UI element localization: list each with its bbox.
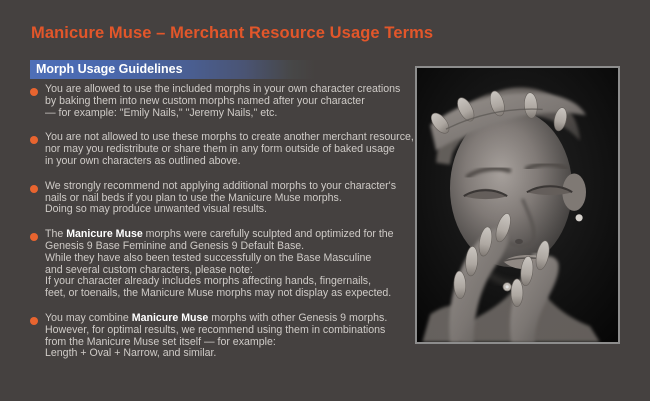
guideline-bullet: We strongly recommend not applying addit… (30, 181, 415, 216)
emphasis-text: Manicure Muse (66, 228, 143, 240)
bullet-dot-icon (30, 136, 38, 144)
plain-text: If your character already includes morph… (45, 275, 371, 287)
portrait-illustration (417, 68, 618, 342)
plain-text: You may combine (45, 312, 132, 324)
guideline-text: The Manicure Muse morphs were carefully … (45, 229, 415, 300)
guideline-text-line: Doing so may produce unwanted visual res… (45, 204, 415, 216)
plain-text: You are not allowed to use these morphs … (45, 131, 414, 143)
plain-text: nails or nail beds if you plan to use th… (45, 192, 342, 204)
guideline-bullet: You are allowed to use the included morp… (30, 84, 415, 119)
plain-text: by baking them into new custom morphs na… (45, 95, 365, 107)
plain-text: Doing so may produce unwanted visual res… (45, 203, 267, 215)
plain-text: morphs were carefully sculpted and optim… (143, 228, 394, 240)
plain-text: morphs with other Genesis 9 morphs. (208, 312, 387, 324)
bullet-dot-icon (30, 88, 38, 96)
plain-text: nor may you redistribute or share them i… (45, 143, 395, 155)
section-heading-band: Morph Usage Guidelines (30, 60, 315, 79)
plain-text: The (45, 228, 66, 240)
guideline-bullet: The Manicure Muse morphs were carefully … (30, 229, 415, 300)
guideline-text: You are allowed to use the included morp… (45, 84, 415, 119)
product-preview-image (415, 66, 620, 344)
plain-text: feet, or toenails, the Manicure Muse mor… (45, 287, 391, 299)
guideline-text: You are not allowed to use these morphs … (45, 132, 415, 167)
guideline-bullet: You may combine Manicure Muse morphs wit… (30, 313, 415, 360)
guideline-text: We strongly recommend not applying addit… (45, 181, 415, 216)
guidelines-list: You are allowed to use the included morp… (30, 84, 415, 373)
guideline-text-line: — for example: "Emily Nails," "Jeremy Na… (45, 108, 415, 120)
bullet-dot-icon (30, 317, 38, 325)
plain-text: We strongly recommend not applying addit… (45, 180, 396, 192)
plain-text: While they have also been tested success… (45, 252, 371, 264)
guideline-text-line: in your own characters as outlined above… (45, 156, 415, 168)
bullet-dot-icon (30, 233, 38, 241)
plain-text: and several custom characters, please no… (45, 264, 253, 276)
page-title: Manicure Muse – Merchant Resource Usage … (31, 24, 433, 43)
guideline-text-line: feet, or toenails, the Manicure Muse mor… (45, 288, 415, 300)
bullet-dot-icon (30, 185, 38, 193)
guideline-bullet: You are not allowed to use these morphs … (30, 132, 415, 167)
plain-text: You are allowed to use the included morp… (45, 83, 400, 95)
plain-text: from the Manicure Muse set itself — for … (45, 336, 276, 348)
emphasis-text: Manicure Muse (132, 312, 209, 324)
plain-text: Genesis 9 Base Feminine and Genesis 9 De… (45, 240, 304, 252)
promo-page: Manicure Muse – Merchant Resource Usage … (0, 0, 650, 401)
plain-text: in your own characters as outlined above… (45, 155, 241, 167)
section-heading-label: Morph Usage Guidelines (36, 62, 183, 76)
guideline-text-line: Length + Oval + Narrow, and similar. (45, 348, 415, 360)
guideline-text: You may combine Manicure Muse morphs wit… (45, 313, 415, 360)
plain-text: However, for optimal results, we recomme… (45, 324, 385, 336)
plain-text: Length + Oval + Narrow, and similar. (45, 347, 216, 359)
plain-text: — for example: "Emily Nails," "Jeremy Na… (45, 107, 277, 119)
